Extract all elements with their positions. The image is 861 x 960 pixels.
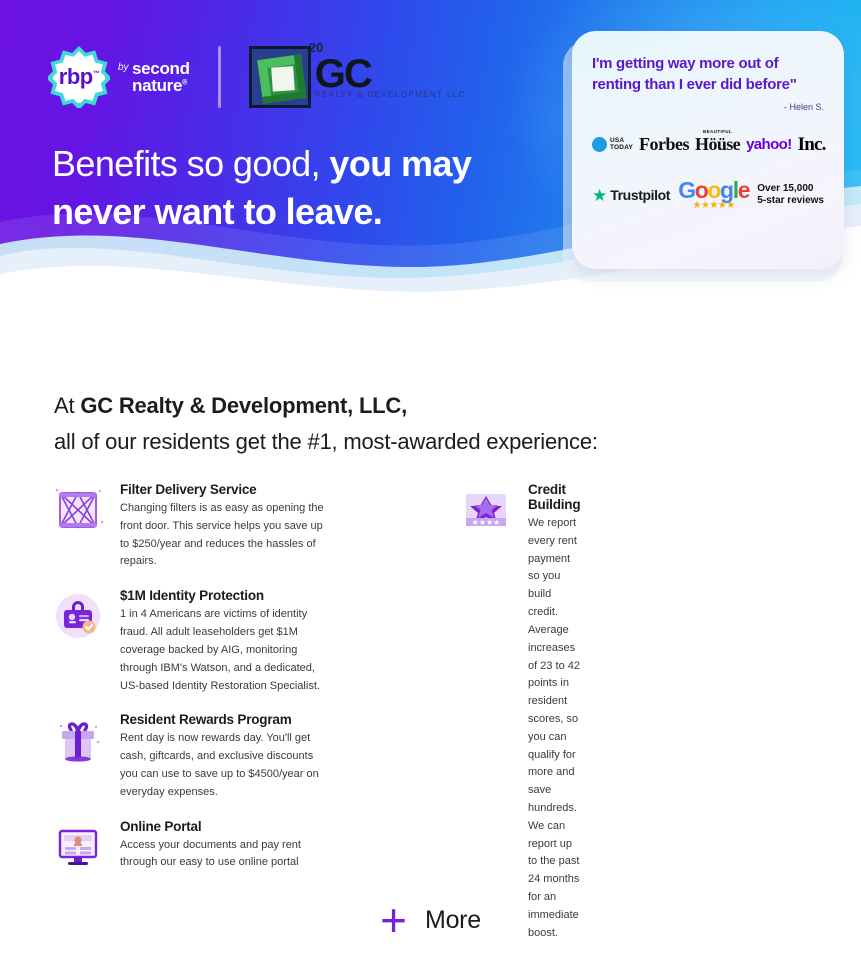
rbp-logo: rbp™: [48, 46, 110, 108]
hero-headline-line1-bold: you may: [329, 143, 471, 184]
hero-banner: rbp™ by second nature® 20 GC REALTY & DE…: [0, 0, 861, 310]
brochure-page: rbp™ by second nature® 20 GC REALTY & DE…: [0, 0, 861, 960]
press-logo-row: USA TODAY Forbes BEAUTIFUL Höüse yahoo! …: [592, 134, 824, 156]
trustpilot-star-icon: ★: [592, 187, 607, 204]
page-title-prefix: At: [54, 393, 80, 418]
logo-divider: [218, 46, 221, 108]
hero-headline-line2: never want to leave.: [52, 191, 382, 232]
more-button[interactable]: + More: [0, 897, 861, 943]
yahoo-logo: yahoo!: [746, 136, 792, 153]
ratings-row: ★ Trustpilot Google ★★★★★ Over 15,000 5-…: [592, 180, 824, 211]
page-title-line2: all of our residents get the #1, most-aw…: [54, 429, 598, 454]
second-nature-line2: nature®: [132, 77, 190, 94]
inc-logo: Inc.: [798, 134, 826, 156]
usa-today-logo: USA TODAY: [592, 137, 633, 152]
benefit-text: Credit Building We report every rent pay…: [528, 482, 580, 943]
gc-book-icon: [257, 54, 307, 104]
house-beautiful-word: Höüse: [695, 134, 740, 154]
reviews-count-line1: Over 15,000: [757, 183, 824, 196]
trustpilot-logo: ★ Trustpilot: [592, 187, 670, 204]
hero-logo-row: rbp™ by second nature® 20 GC REALTY & DE…: [48, 46, 466, 108]
usa-today-text: USA TODAY: [610, 138, 633, 152]
benefit-description: We report every rent payment so you buil…: [528, 515, 580, 943]
credit-stars-icon: ★★★★: [458, 482, 514, 538]
usa-today-line2: TODAY: [610, 145, 633, 152]
hero-headline-line1-normal: Benefits so good,: [52, 143, 329, 184]
hero-headline: Benefits so good, you may never want to …: [52, 140, 471, 236]
reviews-count: Over 15,000 5-star reviews: [757, 183, 824, 208]
second-nature-by-label: by: [118, 63, 129, 73]
second-nature-registered: ®: [182, 79, 187, 86]
gc-subtitle: REALTY & DEVELOPMENT LLC: [315, 90, 466, 99]
second-nature-line1: second: [132, 60, 190, 77]
gift-icon: [50, 712, 106, 768]
gc-logo-mark: [249, 46, 311, 108]
identity-shield-icon: [50, 588, 106, 644]
second-nature-wordmark: by second nature®: [132, 60, 190, 95]
rbp-trademark: ™: [93, 71, 100, 78]
testimonial-card: I'm getting way more out of renting than…: [572, 31, 844, 269]
gc-realty-logo: 20 GC REALTY & DEVELOPMENT LLC: [249, 46, 466, 108]
rbp-wordmark: rbp™: [59, 64, 99, 90]
benefits-columns: Filter Delivery Service Changing filters…: [0, 482, 861, 960]
plus-icon: +: [380, 897, 407, 943]
house-beautiful-superscript: BEAUTIFUL: [703, 129, 732, 134]
usa-today-dot-icon: [592, 137, 607, 152]
google-stars-icon: ★★★★★: [678, 201, 749, 210]
trustpilot-label: Trustpilot: [610, 187, 670, 203]
gc-anniversary-badge: 20: [309, 40, 323, 55]
testimonial-quote: I'm getting way more out of renting than…: [592, 53, 824, 96]
monitor-portal-icon: [50, 819, 106, 875]
testimonial-author: - Helen S.: [592, 102, 824, 112]
house-beautiful-logo: BEAUTIFUL Höüse: [695, 134, 740, 155]
gc-wordmark-block: 20 GC REALTY & DEVELOPMENT LLC: [315, 56, 466, 99]
forbes-logo: Forbes: [639, 134, 689, 155]
page-title-company: GC Realty & Development, LLC,: [80, 393, 407, 418]
page-title: At GC Realty & Development, LLC, all of …: [54, 388, 598, 459]
more-label: More: [425, 906, 481, 935]
svg-text:★★★★: ★★★★: [472, 518, 501, 527]
filter-icon: [50, 482, 106, 538]
google-reviews-logo: Google ★★★★★: [678, 180, 749, 211]
benefit-title: Credit Building: [528, 482, 580, 512]
gc-wordmark: GC: [315, 56, 466, 92]
google-wordmark: Google: [678, 180, 749, 202]
reviews-count-line2: 5-star reviews: [757, 195, 824, 208]
